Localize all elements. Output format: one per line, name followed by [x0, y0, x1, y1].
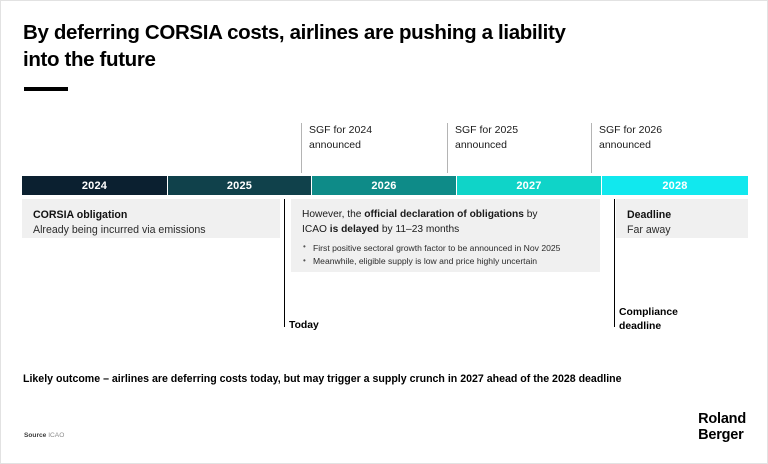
timeline-bar: 2024 2025 2026 2027 2028	[22, 176, 748, 195]
center-line1-bold: official declaration of obligations	[364, 209, 524, 220]
list-item: First positive sectoral growth factor to…	[302, 242, 589, 255]
info-box-center-line2: ICAO is delayed by 11–23 months	[302, 223, 589, 238]
info-box-left-heading: CORSIA obligation	[33, 208, 269, 223]
callout-label-sgf-2026: SGF for 2026 announced	[591, 123, 741, 153]
center-line2-pre: ICAO	[302, 224, 330, 235]
center-line2-bold: is delayed	[330, 224, 379, 235]
timeline-segment-2027[interactable]: 2027	[457, 176, 601, 195]
info-box-corsia-obligation: CORSIA obligation Already being incurred…	[22, 199, 280, 238]
compliance-marker-label: Compliance deadline	[619, 306, 678, 334]
roland-berger-logo: Roland Berger	[698, 411, 746, 444]
center-line2-post: by 11–23 months	[379, 224, 459, 235]
callout-label-sgf-2025: SGF for 2025 announced	[447, 123, 587, 153]
list-item: Meanwhile, eligible supply is low and pr…	[302, 255, 589, 268]
page-title: By deferring CORSIA costs, airlines are …	[23, 19, 723, 74]
center-line1-pre: However, the	[302, 209, 364, 220]
info-box-left-subtext: Already being incurred via emissions	[33, 223, 269, 238]
slide-canvas: By deferring CORSIA costs, airlines are …	[0, 0, 768, 464]
center-line1-post: by	[524, 209, 538, 220]
info-box-deadline: Deadline Far away	[616, 199, 748, 238]
timeline-segment-2028[interactable]: 2028	[602, 176, 748, 195]
source-label: Source	[24, 432, 46, 439]
today-marker-line	[284, 199, 285, 327]
info-box-center-line1: However, the official declaration of obl…	[302, 208, 589, 223]
title-accent-rule	[24, 87, 68, 91]
info-box-center-bullets: First positive sectoral growth factor to…	[302, 242, 589, 269]
info-box-icao-delay: However, the official declaration of obl…	[291, 199, 600, 272]
callout-label-sgf-2024: SGF for 2024 announced	[301, 123, 441, 153]
takeaway-statement: Likely outcome – airlines are deferring …	[23, 372, 749, 387]
source-value: ICAO	[48, 432, 64, 439]
timeline-segment-2025[interactable]: 2025	[168, 176, 311, 195]
timeline-segment-2024[interactable]: 2024	[22, 176, 167, 195]
source-note: Source ICAO	[24, 432, 64, 439]
today-marker-label: Today	[289, 319, 319, 333]
timeline-segment-2026[interactable]: 2026	[312, 176, 456, 195]
compliance-marker-line	[614, 199, 615, 327]
info-box-right-subtext: Far away	[627, 223, 737, 238]
info-box-right-heading: Deadline	[627, 208, 737, 223]
